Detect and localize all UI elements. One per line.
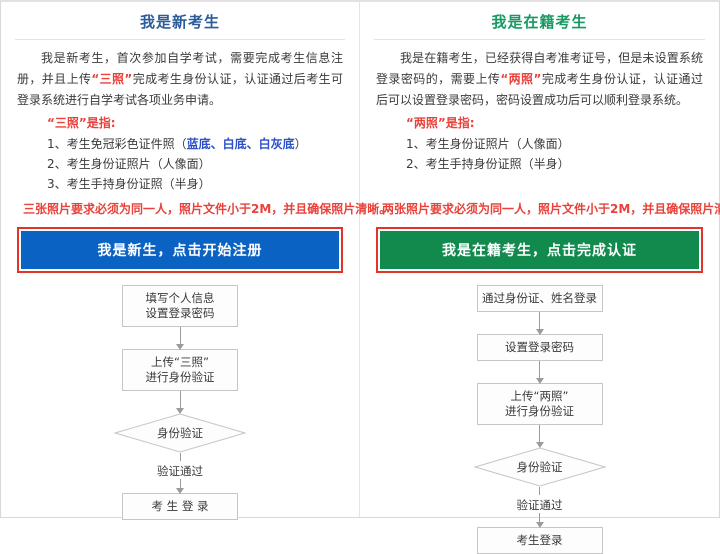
sanzhao-subhead: “三照”是指: (47, 113, 347, 133)
item-text: 2、考生身份证照片（人像面） (47, 157, 211, 171)
flow-arrow-2 (180, 391, 181, 413)
page-root: 我是新考生 我是新考生，首次参加自学考试，需要完成考生信息注册，并且上传“三照”… (0, 0, 720, 518)
existing-candidate-description: 我是在籍考生，已经获得自考准考证号，但是未设置系统登录密码的，需要上传“两照”完… (376, 48, 703, 111)
flow-node-login-by-id: 通过身份证、姓名登录 (477, 285, 603, 312)
list-item: 1、考生身份证照片（人像面） (406, 134, 707, 154)
complete-verification-button[interactable]: 我是在籍考生，点击完成认证 (380, 231, 699, 269)
existing-candidate-flowchart: 通过身份证、姓名登录 设置登录密码 上传“两照” 进行身份验证 身份验证 验证通… (372, 285, 707, 554)
flow-node-candidate-login: 考生登录 (477, 527, 603, 554)
list-item: 2、考生手持身份证照（半身） (406, 154, 707, 174)
flow-arrow-3 (539, 425, 540, 447)
flow-decision-identity-verify: 身份验证 (114, 413, 246, 453)
flow-arrow-1 (180, 327, 181, 349)
sanzhao-list: 1、考生免冠彩色证件照（蓝底、白底、白灰底） 2、考生身份证照片（人像面） 3、… (47, 134, 347, 194)
item-text: 1、考生身份证照片（人像面） (406, 137, 570, 151)
flow-node-upload-sanzhao: 上传“三照” 进行身份验证 (122, 349, 238, 391)
flow-line-pass (539, 487, 540, 495)
existing-candidate-title: 我是在籍考生 (372, 2, 707, 39)
new-candidate-description: 我是新考生，首次参加自学考试，需要完成考生信息注册，并且上传“三照”完成考生身份… (17, 48, 343, 111)
start-registration-button[interactable]: 我是新生，点击开始注册 (21, 231, 339, 269)
flow-decision-identity-verify: 身份验证 (474, 447, 606, 487)
liangzhao-list: 1、考生身份证照片（人像面） 2、考生手持身份证照（半身） (406, 134, 707, 174)
new-candidate-cta-frame: 我是新生，点击开始注册 (17, 227, 343, 273)
title-divider-left (15, 39, 345, 40)
flow-node-candidate-login: 考 生 登 录 (122, 493, 238, 520)
liangzhao-subhead: “两照”是指: (406, 113, 707, 133)
existing-candidate-panel: 我是在籍考生 我是在籍考生，已经获得自考准考证号，但是未设置系统登录密码的，需要… (360, 2, 719, 517)
list-item: 1、考生免冠彩色证件照（蓝底、白底、白灰底） (47, 134, 347, 154)
desc-highlight-sanzhao: “三照” (91, 72, 132, 86)
item-text: 1、考生免冠彩色证件照（ (47, 137, 187, 151)
list-item: 3、考生手持身份证照（半身） (47, 174, 347, 194)
two-column-layout: 我是新考生 我是新考生，首次参加自学考试，需要完成考生信息注册，并且上传“三照”… (1, 2, 719, 517)
flow-node-set-password: 设置登录密码 (477, 334, 603, 361)
item-text: 2、考生手持身份证照（半身） (406, 157, 570, 171)
flow-node-fill-info: 填写个人信息 设置登录密码 (122, 285, 238, 327)
sanzhao-warning: 三张照片要求必须为同一人，照片文件小于2M，并且确保照片清晰。 (23, 199, 347, 219)
list-item: 2、考生身份证照片（人像面） (47, 154, 347, 174)
flow-arrow-3 (180, 479, 181, 493)
flow-node-upload-liangzhao: 上传“两照” 进行身份验证 (477, 383, 603, 425)
new-candidate-flowchart: 填写个人信息 设置登录密码 上传“三照” 进行身份验证 身份验证 验证通过 考 … (13, 285, 347, 520)
flow-arrow-1 (539, 312, 540, 334)
flow-arrow-2 (539, 361, 540, 383)
existing-candidate-cta-frame: 我是在籍考生，点击完成认证 (376, 227, 703, 273)
item-highlight: 蓝底、白底、白灰底 (187, 137, 295, 151)
title-divider-right (374, 39, 705, 40)
new-candidate-title: 我是新考生 (13, 2, 347, 39)
flow-decision-label: 身份验证 (474, 447, 606, 487)
item-suffix: ） (295, 137, 307, 151)
flow-arrow-4 (539, 513, 540, 527)
desc-highlight-liangzhao: “两照” (500, 72, 541, 86)
flow-decision-label: 身份验证 (114, 413, 246, 453)
flow-line-pass (180, 453, 181, 461)
flow-edge-label-pass: 验证通过 (157, 463, 203, 479)
item-text: 3、考生手持身份证照（半身） (47, 177, 211, 191)
liangzhao-warning: 两张照片要求必须为同一人，照片文件小于2M，并且确保照片清晰。 (382, 199, 707, 219)
new-candidate-panel: 我是新考生 我是新考生，首次参加自学考试，需要完成考生信息注册，并且上传“三照”… (1, 2, 360, 517)
flow-edge-label-pass: 验证通过 (517, 497, 563, 513)
